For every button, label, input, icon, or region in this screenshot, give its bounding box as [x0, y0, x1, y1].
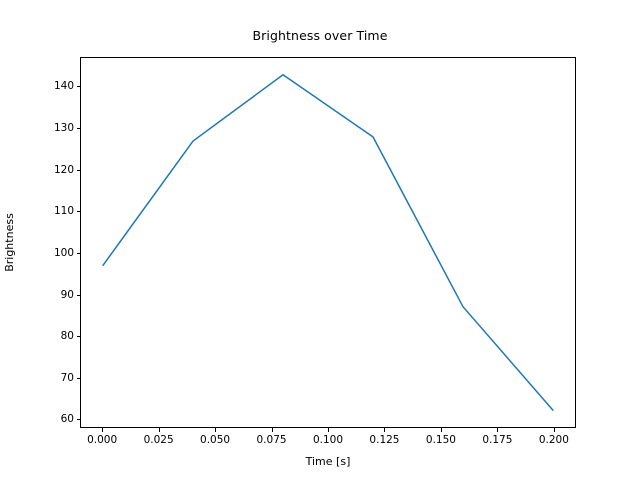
- x-tick-mark: [497, 428, 498, 432]
- y-tick-label: 70: [40, 372, 74, 384]
- x-tick-mark: [384, 428, 385, 432]
- x-tick-mark: [328, 428, 329, 432]
- chart-title: Brightness over Time: [0, 28, 640, 43]
- x-tick-mark: [215, 428, 216, 432]
- x-tick-label: 0.125: [369, 434, 399, 446]
- x-tick-mark: [441, 428, 442, 432]
- line-series-brightness: [103, 75, 553, 410]
- y-tick-label: 110: [40, 205, 74, 217]
- y-tick-label: 80: [40, 330, 74, 342]
- x-tick-mark: [272, 428, 273, 432]
- y-tick-label: 90: [40, 289, 74, 301]
- x-tick-label: 0.025: [144, 434, 174, 446]
- x-tick-label: 0.000: [87, 434, 117, 446]
- y-tick-label: 140: [40, 80, 74, 92]
- y-axis-label-text: Brightness: [3, 213, 16, 272]
- x-tick-mark: [102, 428, 103, 432]
- x-tick-label: 0.050: [200, 434, 230, 446]
- y-tick-label: 130: [40, 122, 74, 134]
- x-tick-label: 0.200: [539, 434, 569, 446]
- x-tick-label: 0.100: [313, 434, 343, 446]
- y-tick-label: 100: [40, 247, 74, 259]
- y-axis-label: Brightness: [0, 57, 18, 428]
- plot-area: [80, 57, 576, 428]
- y-tick-label: 60: [40, 413, 74, 425]
- x-tick-label: 0.075: [257, 434, 287, 446]
- x-tick-mark: [159, 428, 160, 432]
- x-tick-label: 0.150: [426, 434, 456, 446]
- x-tick-mark: [554, 428, 555, 432]
- y-tick-label: 120: [40, 164, 74, 176]
- line-series-svg: [81, 58, 575, 427]
- x-tick-label: 0.175: [482, 434, 512, 446]
- x-axis-label: Time [s]: [80, 455, 576, 468]
- matplotlib-figure: Brightness over Time Brightness 60708090…: [0, 0, 640, 480]
